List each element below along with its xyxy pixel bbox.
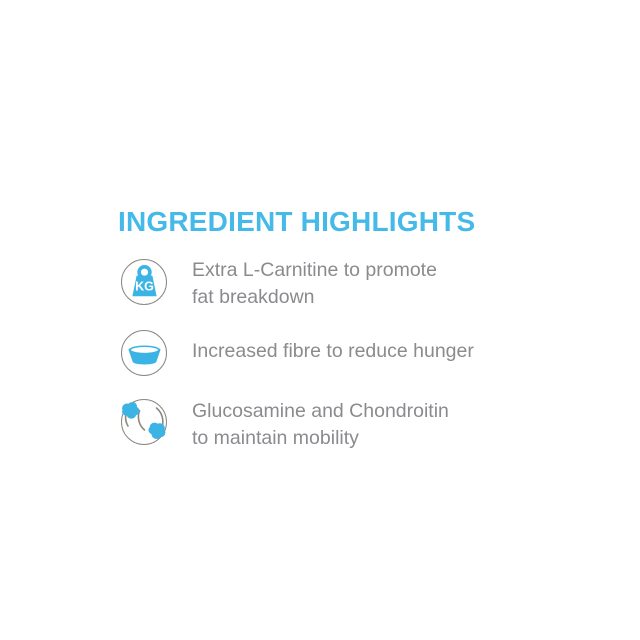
list-item: Increased fibre to reduce hunger <box>118 327 568 381</box>
list-item-label: Increased fibre to reduce hunger <box>192 327 474 365</box>
highlight-icon-container: KG <box>118 256 172 310</box>
highlight-icon-container <box>118 327 172 381</box>
highlights-list: KG Extra L-Carnitine to promote fat brea… <box>118 256 568 452</box>
page-title: INGREDIENT HIGHLIGHTS <box>118 208 475 236</box>
bones-joint-icon <box>118 396 172 450</box>
list-item-label: Extra L-Carnitine to promote fat breakdo… <box>192 256 437 311</box>
highlight-icon-container <box>118 396 172 450</box>
food-bowl-icon <box>118 327 172 381</box>
list-item: KG Extra L-Carnitine to promote fat brea… <box>118 256 568 311</box>
weight-kg-icon: KG <box>118 256 172 310</box>
list-item: Glucosamine and Chondroitin to maintain … <box>118 396 568 452</box>
list-item-label: Glucosamine and Chondroitin to maintain … <box>192 396 449 452</box>
ingredient-highlights-panel: INGREDIENT HIGHLIGHTS KG Extra L-Carniti… <box>0 0 640 640</box>
weight-icon-label: KG <box>135 280 154 294</box>
